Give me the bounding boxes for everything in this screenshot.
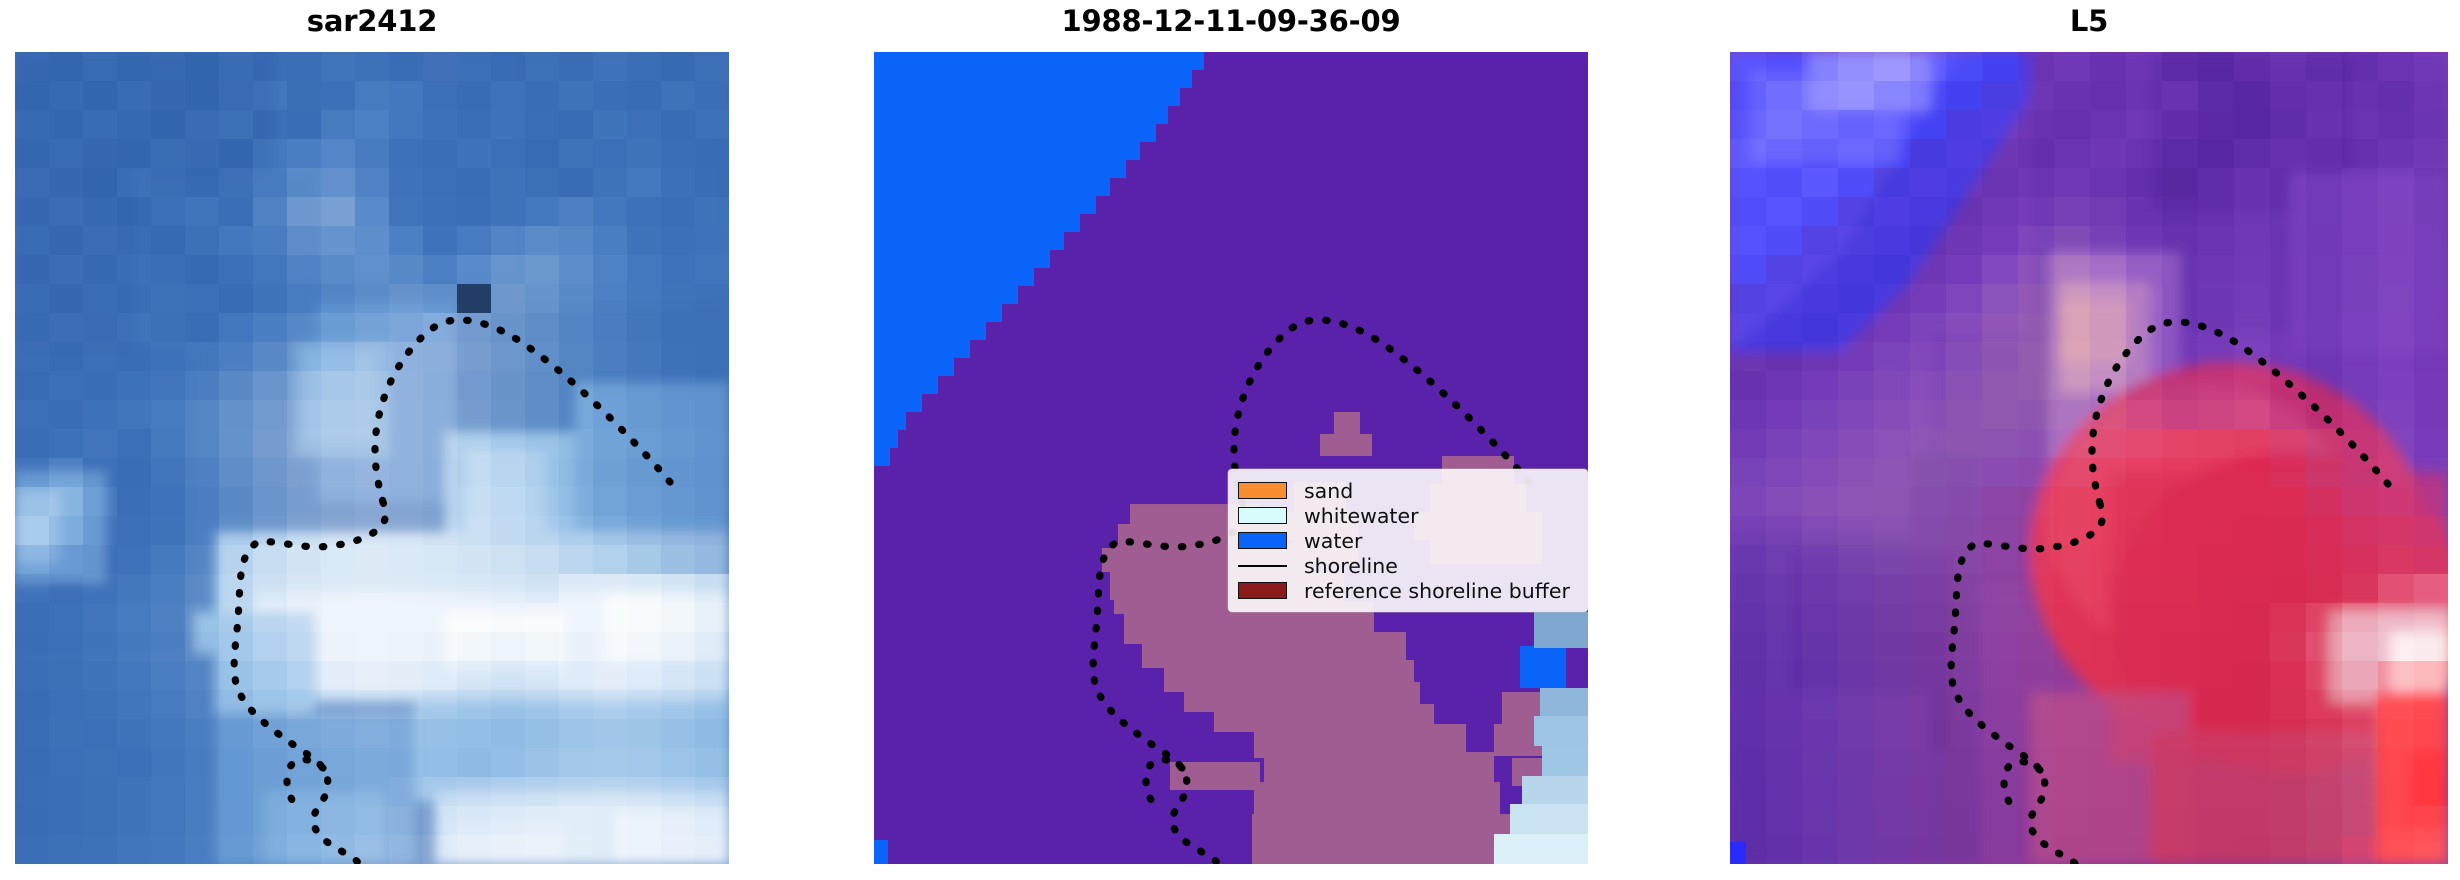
l5-pixel-texture: [1730, 52, 2448, 864]
legend-swatch-water: [1238, 532, 1287, 549]
legend-swatch-whitewater: [1238, 507, 1287, 524]
panel-title-sar2412: sar2412: [15, 4, 729, 38]
panel-title-l5: L5: [1730, 4, 2448, 38]
legend-label-whitewater: whitewater: [1304, 505, 1419, 527]
legend-label-water: water: [1304, 530, 1362, 552]
legend-item-sand: sand: [1238, 478, 1577, 503]
classification-raster: [874, 52, 1588, 864]
legend-item-whitewater: whitewater: [1238, 503, 1577, 528]
legend-label-sand: sand: [1304, 480, 1353, 502]
panel-classification: 1988-12-11-09-36-09: [874, 0, 1588, 880]
sar-raster: [15, 52, 729, 864]
legend-item-shoreline: shoreline: [1238, 553, 1577, 578]
axes-sar2412: [15, 52, 729, 864]
axes-l5: [1730, 52, 2448, 864]
legend-item-water: water: [1238, 528, 1577, 553]
panel-sar2412: sar2412: [15, 0, 729, 880]
l5-raster: [1730, 52, 2448, 864]
legend-swatch-reference-shoreline-buffer: [1238, 582, 1287, 599]
legend: sand whitewater water shoreline referenc…: [1228, 469, 1588, 612]
legend-swatch-sand: [1238, 482, 1287, 499]
panel-l5: L5: [1730, 0, 2448, 880]
sar-pixel-texture: [15, 52, 729, 864]
legend-label-reference-shoreline-buffer: reference shoreline buffer: [1304, 580, 1570, 602]
figure-canvas: sar2412: [0, 0, 2460, 880]
legend-label-shoreline: shoreline: [1304, 555, 1398, 577]
legend-item-reference-shoreline-buffer: reference shoreline buffer: [1238, 578, 1577, 603]
panel-title-classification: 1988-12-11-09-36-09: [874, 4, 1588, 38]
legend-swatch-shoreline: [1238, 565, 1287, 567]
axes-classification: sand whitewater water shoreline referenc…: [874, 52, 1588, 864]
l5-water-pixel: [1730, 842, 1746, 864]
